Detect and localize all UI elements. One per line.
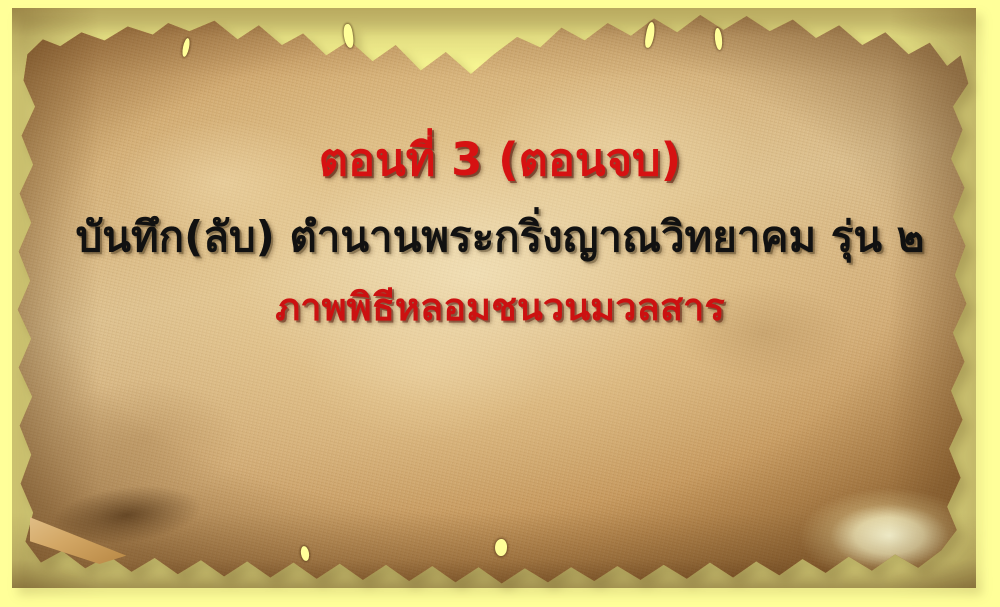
parchment-surface [12, 8, 976, 588]
poster-canvas: ตอนที่ 3 (ตอนจบ) บันทึก(ลับ) ตำนานพระกริ… [0, 0, 1000, 607]
parchment-sheet [12, 8, 976, 588]
